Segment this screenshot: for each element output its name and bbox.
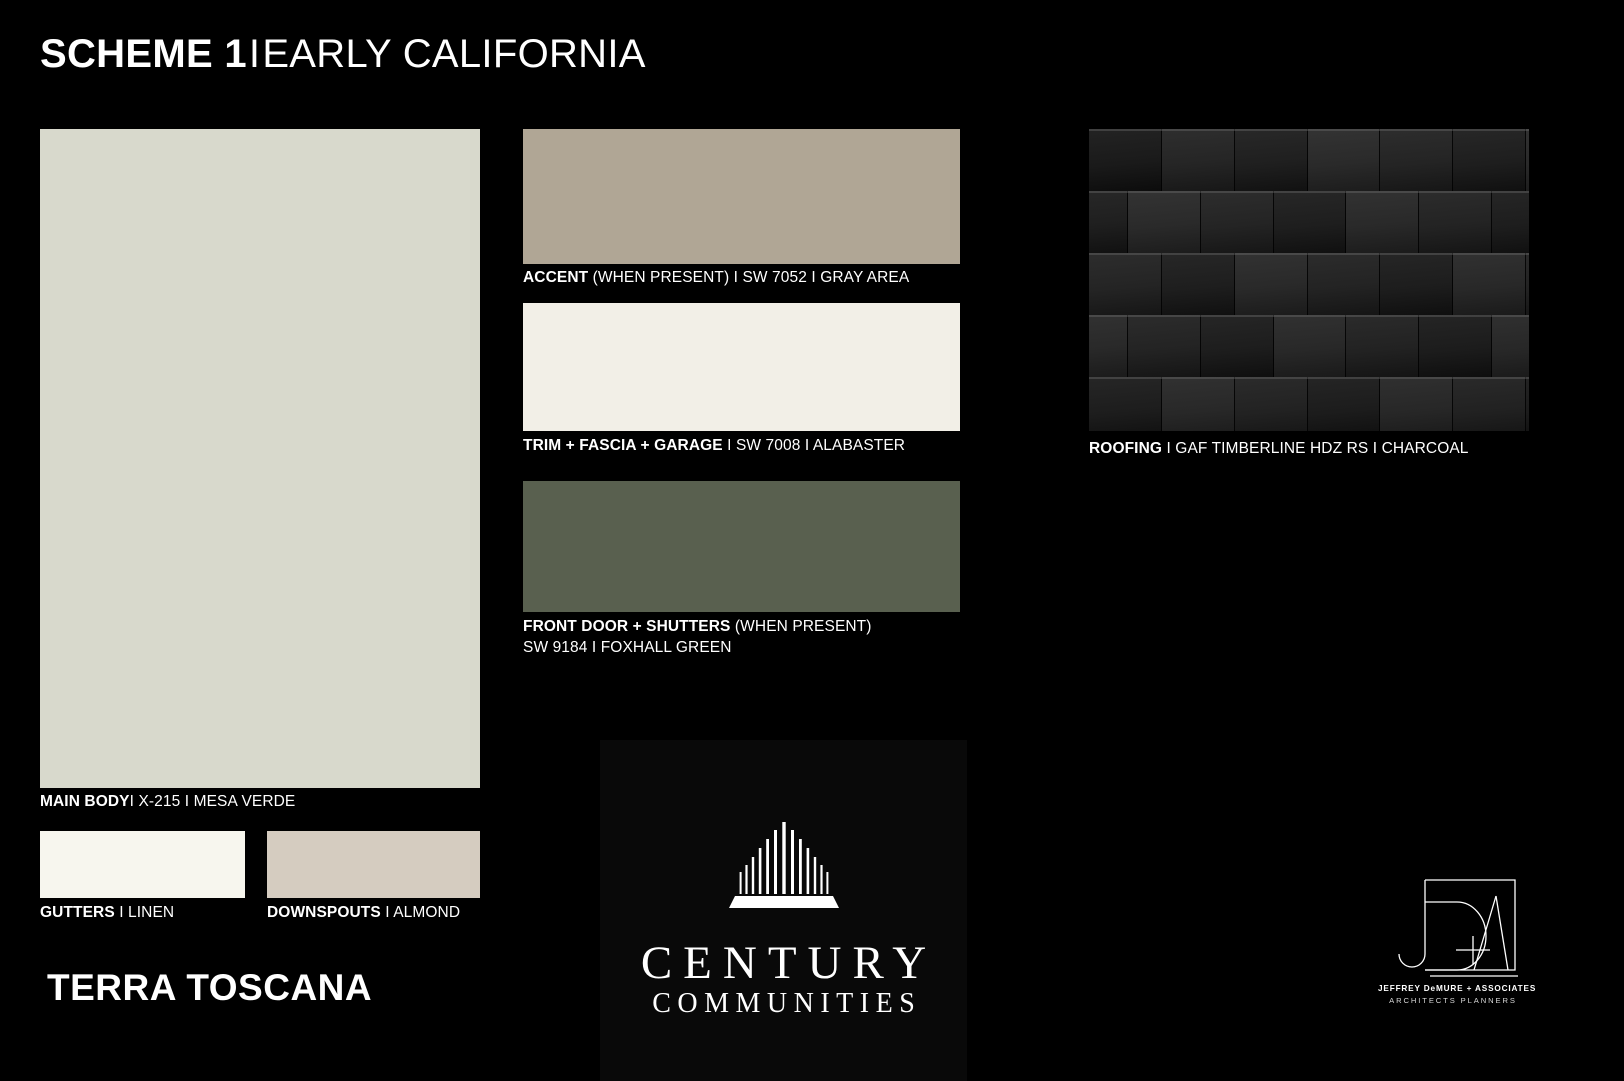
- swatch-accent: [523, 129, 960, 264]
- trim-sep-2: I: [805, 437, 809, 454]
- shingle-seam: [1089, 315, 1529, 317]
- shingle-tab: [1526, 129, 1529, 191]
- caption-main-body: MAIN BODYI X-215 I MESA VERDE: [40, 791, 295, 812]
- shingle-tab: [1089, 315, 1128, 377]
- main-body-sep-2: I: [185, 793, 189, 810]
- accent-code: SW 7052: [742, 269, 806, 286]
- shingle-tab: [1419, 315, 1492, 377]
- trim-color-name: ALABASTER: [813, 437, 905, 454]
- trim-role: TRIM + FASCIA + GARAGE: [523, 437, 723, 454]
- jda-monogram-icon: [1378, 866, 1528, 986]
- roofing-color-name: CHARCOAL: [1382, 440, 1469, 457]
- century-communities-logo: CENTURY COMMUNITIES: [600, 740, 967, 1081]
- shingle-tab: [1274, 315, 1347, 377]
- shingle-tab: [1308, 377, 1381, 431]
- caption-gutters: GUTTERS I LINEN: [40, 902, 174, 923]
- shingle-tab: [1128, 191, 1201, 253]
- jda-tagline-primary: JEFFREY DeMURE + ASSOCIATES: [1378, 984, 1528, 993]
- accent-color-name: GRAY AREA: [820, 269, 909, 286]
- shingle-tab: [1492, 191, 1529, 253]
- shingle-tab: [1089, 129, 1162, 191]
- shingle-seam: [1089, 129, 1529, 131]
- shingle-texture: [1089, 129, 1529, 431]
- main-body-sep-1: I: [130, 793, 134, 810]
- shingle-row: [1089, 129, 1529, 191]
- accent-sep-2: I: [811, 269, 815, 286]
- downspouts-color-name: ALMOND: [393, 904, 460, 921]
- downspouts-role: DOWNSPOUTS: [267, 904, 381, 921]
- century-subwordmark: COMMUNITIES: [600, 988, 967, 1020]
- shingle-tab: [1453, 377, 1526, 431]
- trim-code: SW 7008: [736, 437, 800, 454]
- scheme-name: EARLY CALIFORNIA: [262, 32, 645, 76]
- accent-qualifier: (WHEN PRESENT): [593, 269, 730, 286]
- title-separator: I: [247, 32, 262, 76]
- caption-front-door: FRONT DOOR + SHUTTERS (WHEN PRESENT) SW …: [523, 616, 993, 658]
- shingle-seam: [1089, 377, 1529, 379]
- front-door-code: SW 9184: [523, 639, 587, 656]
- roofing-product: GAF TIMBERLINE HDZ RS: [1175, 440, 1368, 457]
- shingle-row: [1089, 377, 1529, 431]
- roofing-sep-2: I: [1373, 440, 1377, 457]
- roofing-sep-1: I: [1166, 440, 1170, 457]
- front-door-color-name: FOXHALL GREEN: [601, 639, 732, 656]
- color-scheme-board: SCHEME 1IEARLY CALIFORNIA MAIN BODYI X-2…: [0, 0, 1624, 1081]
- main-body-role: MAIN BODY: [40, 793, 130, 810]
- shingle-tab: [1235, 129, 1308, 191]
- caption-accent: ACCENT (WHEN PRESENT) I SW 7052 I GRAY A…: [523, 267, 909, 288]
- project-name: TERRA TOSCANA: [47, 967, 372, 1009]
- shingle-tab: [1419, 191, 1492, 253]
- shingle-seam: [1089, 253, 1529, 255]
- downspouts-sep-1: I: [385, 904, 389, 921]
- shingle-tab: [1380, 377, 1453, 431]
- shingle-row: [1089, 315, 1529, 377]
- front-door-role: FRONT DOOR + SHUTTERS: [523, 618, 730, 635]
- shingle-tab: [1162, 129, 1235, 191]
- shingle-row: [1089, 191, 1529, 253]
- caption-downspouts: DOWNSPOUTS I ALMOND: [267, 902, 460, 923]
- gutters-role: GUTTERS: [40, 904, 115, 921]
- gutters-sep-1: I: [119, 904, 123, 921]
- trim-sep-1: I: [727, 437, 731, 454]
- century-pediment-icon: [722, 818, 846, 914]
- century-wordmark: CENTURY: [600, 936, 967, 990]
- shingle-tab: [1308, 253, 1381, 315]
- roofing-role: ROOFING: [1089, 440, 1162, 457]
- scheme-number: SCHEME 1: [40, 32, 247, 76]
- shingle-tab: [1492, 315, 1529, 377]
- accent-role: ACCENT: [523, 269, 588, 286]
- shingle-row: [1089, 253, 1529, 315]
- shingle-tab: [1128, 315, 1201, 377]
- main-body-color-name: MESA VERDE: [194, 793, 296, 810]
- gutters-color-name: LINEN: [128, 904, 174, 921]
- shingle-tab: [1089, 253, 1162, 315]
- swatch-front-door: [523, 481, 960, 612]
- front-door-sep-2: I: [592, 639, 596, 656]
- shingle-tab: [1162, 253, 1235, 315]
- shingle-seam: [1089, 191, 1529, 193]
- shingle-tab: [1380, 129, 1453, 191]
- shingle-tab: [1526, 253, 1529, 315]
- shingle-tab: [1526, 377, 1529, 431]
- shingle-tab: [1346, 315, 1419, 377]
- shingle-tab: [1201, 191, 1274, 253]
- accent-sep-1: I: [734, 269, 738, 286]
- shingle-tab: [1162, 377, 1235, 431]
- board-title: SCHEME 1IEARLY CALIFORNIA: [40, 33, 646, 75]
- swatch-downspouts: [267, 831, 480, 898]
- shingle-tab: [1274, 191, 1347, 253]
- shingle-tab: [1380, 253, 1453, 315]
- shingle-tab: [1089, 191, 1128, 253]
- swatch-gutters: [40, 831, 245, 898]
- caption-trim: TRIM + FASCIA + GARAGE I SW 7008 I ALABA…: [523, 435, 905, 456]
- shingle-tab: [1453, 253, 1526, 315]
- shingle-tab: [1453, 129, 1526, 191]
- front-door-qualifier: (WHEN PRESENT): [735, 618, 872, 635]
- main-body-code: X-215: [138, 793, 180, 810]
- shingle-tab: [1308, 129, 1381, 191]
- swatch-trim: [523, 303, 960, 431]
- swatch-roofing: [1089, 129, 1529, 431]
- jda-logo: JEFFREY DeMURE + ASSOCIATES ARCHITECTS P…: [1378, 866, 1528, 1021]
- shingle-tab: [1235, 377, 1308, 431]
- shingle-tab: [1089, 377, 1162, 431]
- shingle-tab: [1235, 253, 1308, 315]
- shingle-tab: [1346, 191, 1419, 253]
- shingle-tab: [1201, 315, 1274, 377]
- caption-roofing: ROOFING I GAF TIMBERLINE HDZ RS I CHARCO…: [1089, 438, 1469, 459]
- swatch-main-body: [40, 129, 480, 788]
- jda-tagline-secondary: ARCHITECTS PLANNERS: [1378, 996, 1528, 1005]
